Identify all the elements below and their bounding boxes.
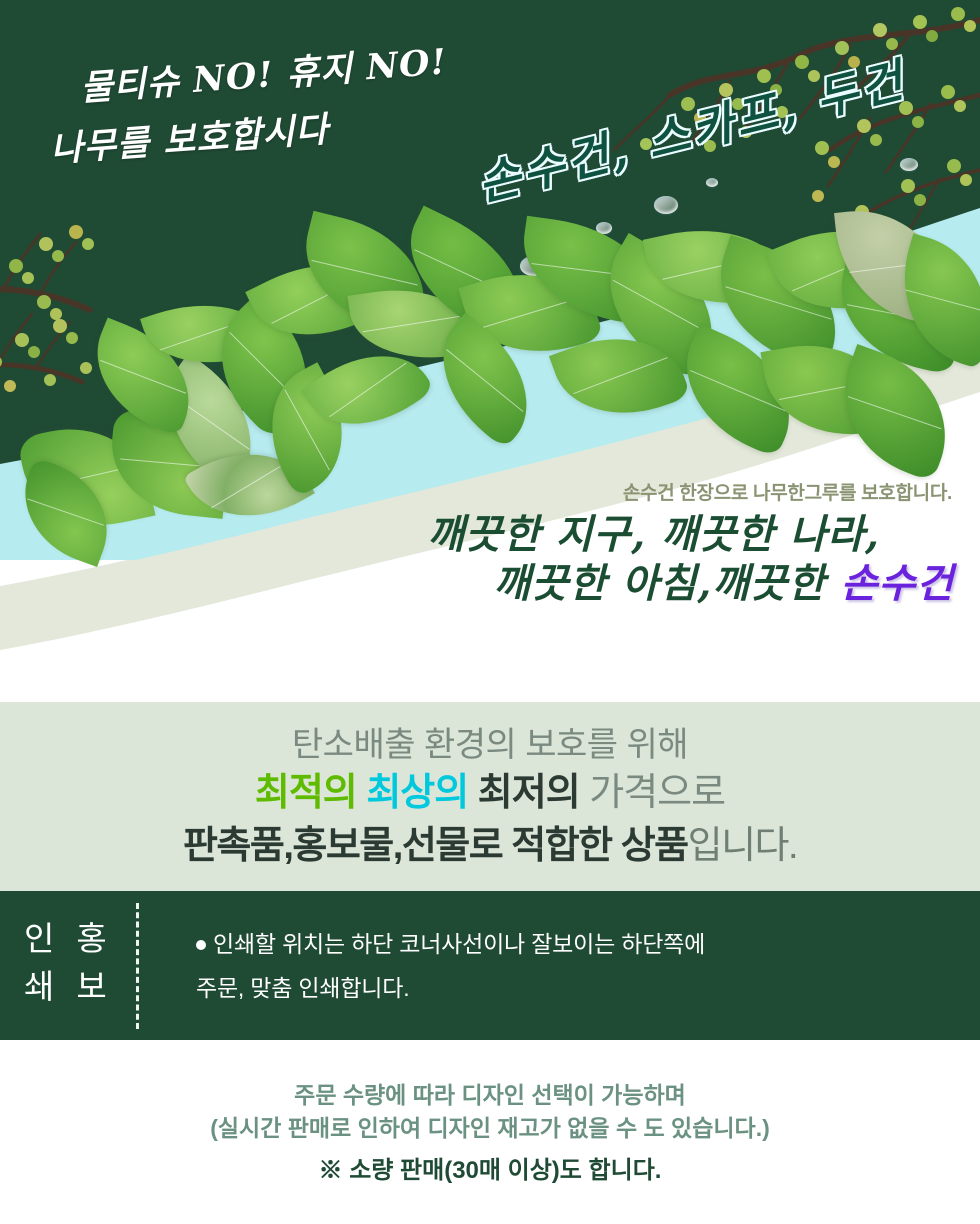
printing-info-line-1: 인쇄할 위치는 하단 코너사선이나 잘보이는 하단쪽에 bbox=[196, 923, 936, 967]
value-line-3-tail: 입니다. bbox=[688, 825, 797, 867]
printing-info-line-1-text: 인쇄할 위치는 하단 코너사선이나 잘보이는 하단쪽에 bbox=[213, 931, 705, 957]
footer-notes: 주문 수량에 따라 디자인 선택이 가능하며 (실시간 판매로 인하여 디자인 … bbox=[0, 1040, 980, 1224]
printing-promo-tag: 인 홍 쇄 보 bbox=[24, 917, 107, 1008]
hero-headline: 물티슈 NO! 휴지 NO! 나무를 보호합시다 bbox=[50, 48, 470, 163]
water-droplet bbox=[654, 196, 678, 214]
slogan-line-1: 깨끗한 지구, 깨끗한 나라, bbox=[342, 511, 962, 560]
printing-info-band: 인 홍 쇄 보 인쇄할 위치는 하단 코너사선이나 잘보이는 하단쪽에 주문, … bbox=[0, 891, 980, 1040]
footer-line-2: (실시간 판매로 인하여 디자인 재고가 없을 수 도 있습니다.) bbox=[210, 1112, 770, 1145]
value-proposition-band: 탄소배출 환경의 보호를 위해 최적의 최상의 최저의 가격으로 판촉품,홍보물… bbox=[0, 702, 980, 891]
slogan-line-2: 깨끗한 아침,깨끗한 손수건 bbox=[342, 560, 962, 609]
water-droplet bbox=[706, 178, 718, 187]
footer-line-3: ※ 소량 판매(30매 이상)도 합니다. bbox=[319, 1150, 662, 1185]
slogan-block: 손수건 한장으로 나무한그루를 보호합니다. 깨끗한 지구, 깨끗한 나라, 깨… bbox=[342, 478, 962, 609]
bullet-icon bbox=[196, 940, 206, 950]
slogan-highlight-word: 손수건 bbox=[841, 560, 954, 607]
value-line-3: 판촉품,홍보물,선물로 적합한 상품입니다. bbox=[183, 825, 797, 868]
value-word-best: 최상의 bbox=[366, 772, 468, 814]
hero-section: 물티슈 NO! 휴지 NO! 나무를 보호합시다 손수건, 스카프, 두건 손수… bbox=[0, 0, 980, 702]
value-word-price: 가격으로 bbox=[589, 772, 725, 814]
tag-char-4: 보 bbox=[76, 965, 106, 1009]
value-line-3-main: 판촉품,홍보물,선물로 적합한 상품 bbox=[183, 825, 688, 867]
slogan-line-2-prefix: 깨끗한 아침,깨끗한 bbox=[493, 560, 840, 607]
value-line-2: 최적의 최상의 최저의 가격으로 bbox=[255, 772, 725, 815]
value-line-1: 탄소배출 환경의 보호를 위해 bbox=[292, 726, 688, 764]
slogan-subtitle: 손수건 한장으로 나무한그루를 보호합니다. bbox=[342, 478, 962, 505]
value-word-lowest: 최저의 bbox=[478, 772, 580, 814]
dashed-divider bbox=[136, 903, 139, 1029]
tag-char-3: 쇄 bbox=[24, 965, 54, 1009]
value-word-optimal: 최적의 bbox=[255, 772, 357, 814]
water-droplet bbox=[900, 158, 918, 171]
footer-line-1: 주문 수량에 따라 디자인 선택이 가능하며 bbox=[294, 1079, 686, 1112]
promo-page: 물티슈 NO! 휴지 NO! 나무를 보호합시다 손수건, 스카프, 두건 손수… bbox=[0, 0, 980, 1224]
tag-char-1: 인 bbox=[24, 917, 54, 961]
printing-info-text: 인쇄할 위치는 하단 코너사선이나 잘보이는 하단쪽에 주문, 맞춤 인쇄합니다… bbox=[196, 923, 936, 1010]
printing-info-line-2: 주문, 맞춤 인쇄합니다. bbox=[196, 967, 936, 1011]
tag-char-2: 홍 bbox=[76, 917, 106, 961]
